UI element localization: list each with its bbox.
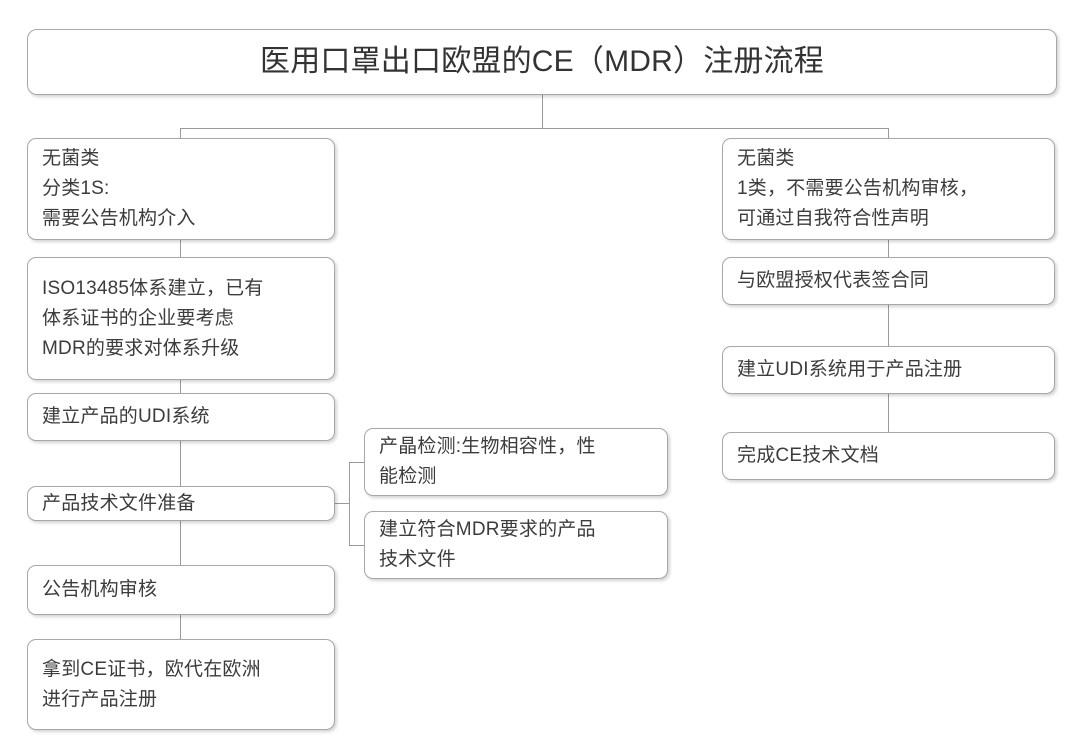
node-middle-1-label: 产晶检测:生物相容性，性 能检测: [365, 432, 667, 492]
node-middle-2[interactable]: 建立符合MDR要求的产品 技术文件: [364, 511, 668, 579]
node-left-1-label: 无菌类 分类1S: 需要公告机构介入: [28, 144, 334, 234]
node-right-4[interactable]: 完成CE技术文档: [722, 432, 1055, 480]
page-title: 医用口罩出口欧盟的CE（MDR）注册流程: [28, 42, 1056, 82]
connector-right-drop: [888, 128, 889, 138]
connector-left-drop: [180, 128, 181, 138]
node-middle-1[interactable]: 产晶检测:生物相容性，性 能检测: [364, 428, 668, 496]
connector-split-bar: [180, 128, 889, 129]
connector-l4-branch-stub: [335, 503, 350, 504]
node-left-4-label: 产品技术文件准备: [28, 489, 334, 519]
connector-l2-l3: [180, 380, 181, 393]
flowchart-title-box: 医用口罩出口欧盟的CE（MDR）注册流程: [27, 29, 1057, 95]
node-right-1-label: 无菌类 1类，不需要公告机构审核， 可通过自我符合性声明: [723, 144, 1054, 234]
connector-middle-spine: [349, 462, 350, 545]
node-left-4[interactable]: 产品技术文件准备: [27, 486, 335, 521]
node-left-3-label: 建立产品的UDI系统: [28, 402, 334, 432]
connector-r1-r2: [888, 240, 889, 257]
connector-r3-r4: [888, 394, 889, 432]
node-left-1[interactable]: 无菌类 分类1S: 需要公告机构介入: [27, 138, 335, 240]
node-left-6-label: 拿到CE证书，欧代在欧洲 进行产品注册: [28, 655, 334, 715]
node-right-4-label: 完成CE技术文档: [723, 441, 1054, 471]
node-right-2-label: 与欧盟授权代表签合同: [723, 266, 1054, 296]
connector-middle-m1: [349, 462, 364, 463]
node-left-3[interactable]: 建立产品的UDI系统: [27, 393, 335, 441]
node-left-5-label: 公告机构审核: [28, 575, 334, 605]
connector-l3-l4: [180, 441, 181, 486]
connector-l1-l2: [180, 240, 181, 257]
connector-l4-l5: [180, 521, 181, 565]
node-right-2[interactable]: 与欧盟授权代表签合同: [722, 257, 1055, 305]
node-right-3-label: 建立UDI系统用于产品注册: [723, 355, 1054, 385]
connector-title-stem: [542, 95, 543, 128]
node-right-1[interactable]: 无菌类 1类，不需要公告机构审核， 可通过自我符合性声明: [722, 138, 1055, 240]
node-left-5[interactable]: 公告机构审核: [27, 565, 335, 615]
connector-r2-r3: [888, 305, 889, 346]
node-right-3[interactable]: 建立UDI系统用于产品注册: [722, 346, 1055, 394]
node-middle-2-label: 建立符合MDR要求的产品 技术文件: [365, 515, 667, 575]
node-left-6[interactable]: 拿到CE证书，欧代在欧洲 进行产品注册: [27, 639, 335, 730]
connector-l5-l6: [180, 615, 181, 639]
node-left-2-label: ISO13485体系建立，已有 体系证书的企业要考虑 MDR的要求对体系升级: [28, 274, 334, 364]
node-left-2[interactable]: ISO13485体系建立，已有 体系证书的企业要考虑 MDR的要求对体系升级: [27, 257, 335, 380]
connector-middle-m2: [349, 545, 364, 546]
flowchart-canvas: 医用口罩出口欧盟的CE（MDR）注册流程 无菌类 分类1S: 需要公告机构介入 …: [0, 0, 1080, 753]
